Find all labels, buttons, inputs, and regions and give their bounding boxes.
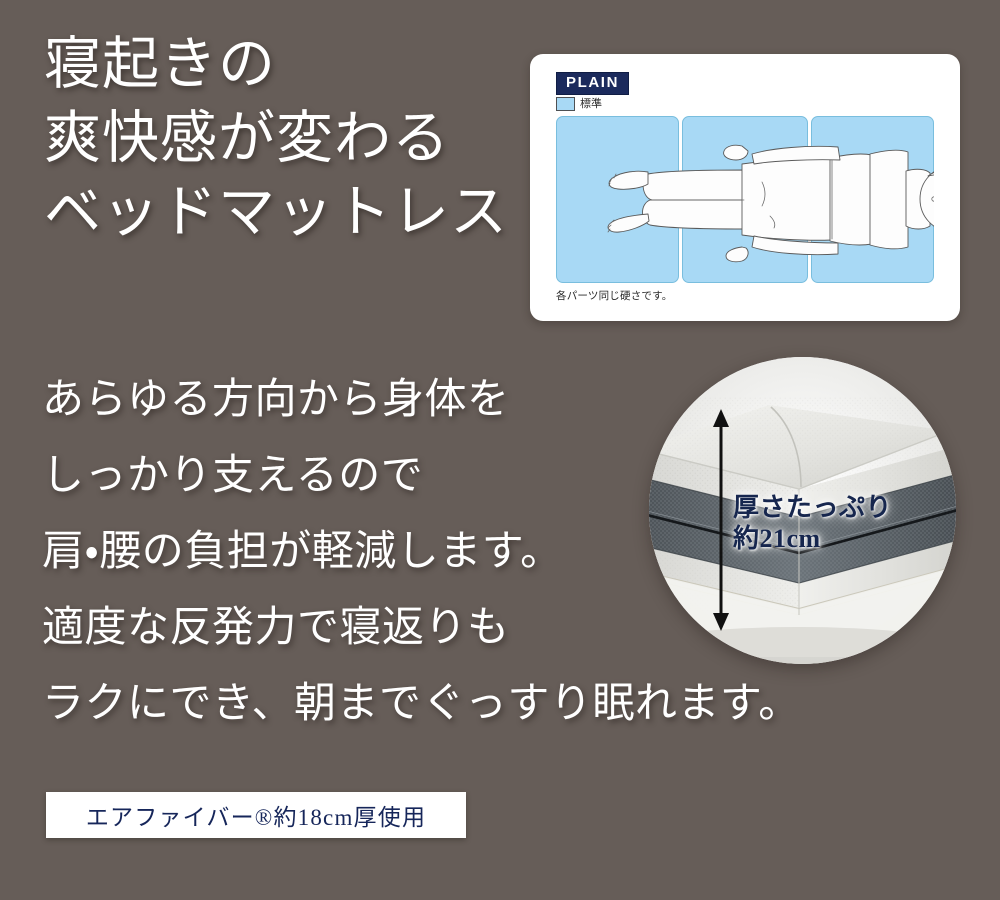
legend-label: 標準 [580, 98, 602, 110]
thickness-caption-line-2: 約21cm [733, 523, 933, 554]
headline-line-1: 寝起きの [44, 28, 564, 102]
airfiber-spec-badge: エアファイバー®約18cm厚使用 [46, 792, 466, 838]
mattress-panel-foot [556, 116, 679, 283]
page-title: 寝起きの 爽快感が変わる ベッドマットレス [44, 28, 564, 250]
mattress-panel-center [682, 116, 808, 283]
mattress-panel-head [811, 116, 934, 283]
card-caption: 各パーツ同じ硬さです。 [556, 288, 672, 303]
firmness-legend: 標準 [556, 97, 602, 111]
thickness-caption-line-1: 厚さたっぷり [733, 492, 933, 523]
headline-line-3: ベッドマットレス [44, 176, 564, 250]
headline-line-2: 爽快感が変わる [44, 102, 564, 176]
mattress-panel-group [556, 116, 934, 283]
body-line-5: ラクにでき、朝までぐっすり眠れます。 [42, 666, 802, 742]
thickness-caption: 厚さたっぷり 約21cm [733, 492, 933, 554]
legend-swatch-icon [556, 97, 575, 111]
airfiber-spec-label: エアファイバー®約18cm厚使用 [86, 798, 426, 832]
plain-badge: PLAIN [556, 72, 629, 95]
ad-canvas: 寝起きの 爽快感が変わる ベッドマットレス あらゆる方向から身体を しっかり支え… [0, 0, 1000, 900]
plain-firmness-card: PLAIN 標準 [530, 54, 960, 321]
